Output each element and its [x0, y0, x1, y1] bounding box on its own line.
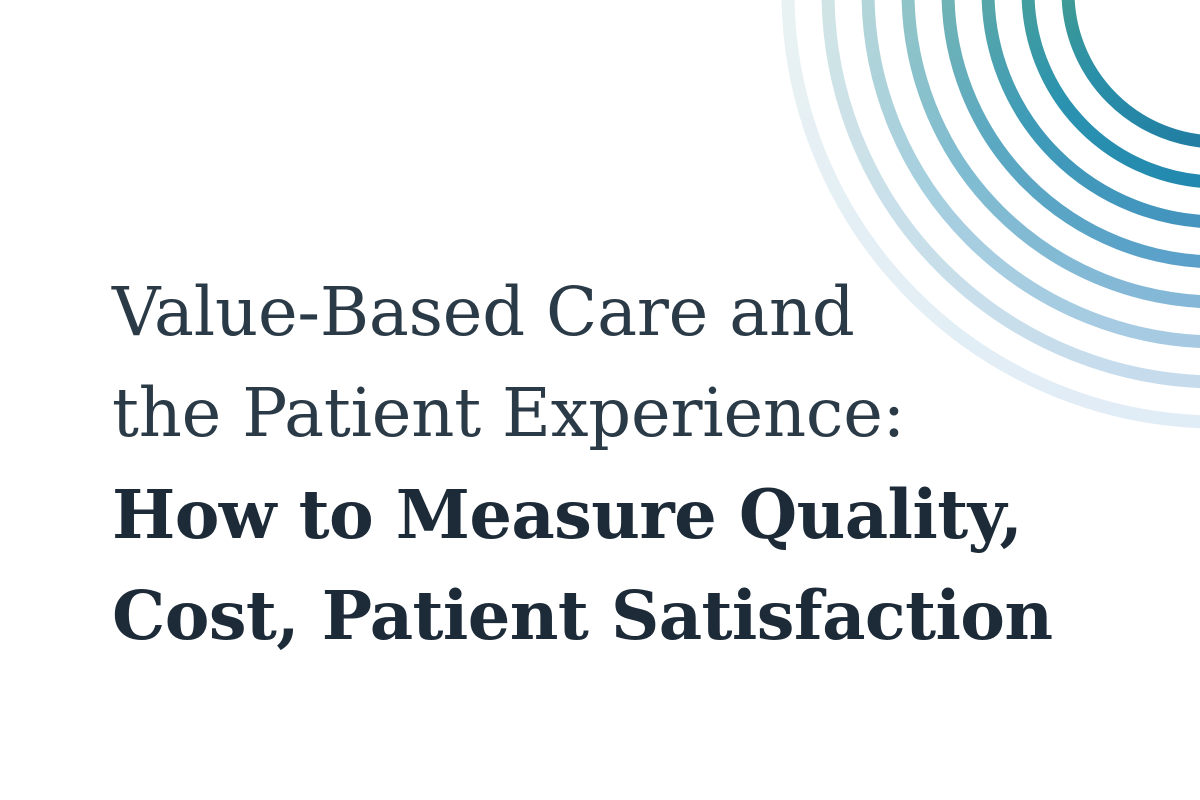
title-line-3: How to Measure Quality, [112, 464, 1042, 565]
title-line-2: the Patient Experience: [112, 363, 1042, 464]
title-line-1: Value-Based Care and [112, 262, 1042, 363]
page-title: Value-Based Care and the Patient Experie… [112, 262, 1042, 666]
cover-page: Value-Based Care and the Patient Experie… [0, 0, 1200, 800]
title-line-4: Cost, Patient Satisfaction [112, 565, 1042, 666]
